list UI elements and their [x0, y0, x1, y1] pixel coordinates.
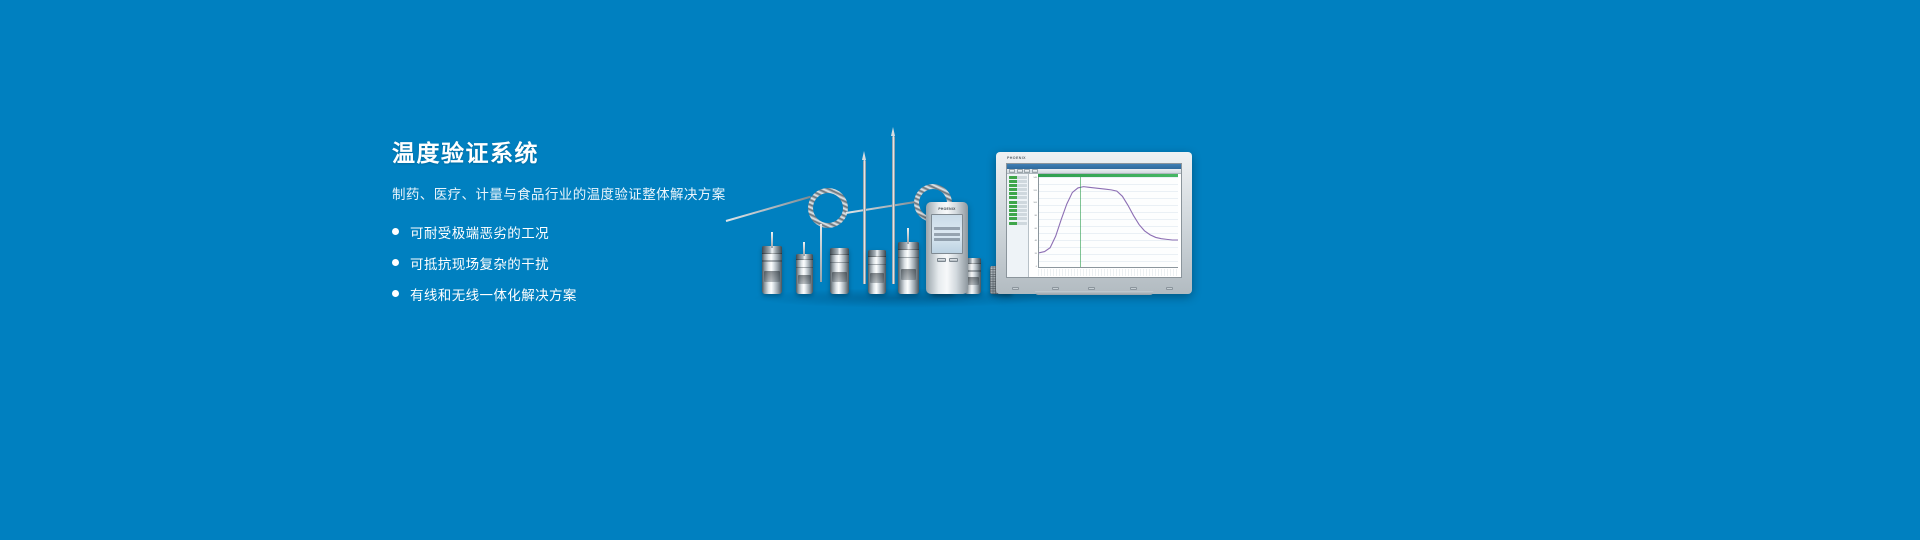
bullet-label: 可抵抗现场复杂的干扰: [410, 253, 549, 273]
data-logger-3: [830, 248, 849, 294]
toolbar-button[interactable]: [1017, 169, 1023, 172]
data-logger-1: [762, 246, 782, 294]
chart-y-axis: 140120100806040200: [1029, 177, 1038, 268]
logger-body: [830, 248, 849, 294]
channel-row[interactable]: [1009, 209, 1027, 212]
logger-body: [796, 254, 813, 294]
bullet-dot-icon: [392, 290, 399, 297]
handheld-screen-line: [934, 227, 960, 230]
coiled-wire-probe-left: [808, 188, 848, 228]
chart-y-tick: 40: [1035, 240, 1037, 242]
data-logger-5: [898, 242, 919, 294]
screen-body: 140120100806040200: [1007, 174, 1181, 277]
chart-y-tick: 0: [1036, 266, 1037, 268]
bullet-label: 有线和无线一体化解决方案: [410, 284, 577, 304]
coiled-wire-probe-left-stem: [820, 224, 822, 282]
monitor-button-up[interactable]: [1052, 287, 1059, 290]
coiled-wire-connector: [846, 200, 919, 214]
data-logger-1-pin: [771, 232, 773, 248]
logger-label: [798, 275, 811, 284]
logger-body: [868, 250, 886, 294]
handheld-reader-device: PHOENIX: [926, 202, 968, 294]
toolbar-button[interactable]: [1009, 169, 1015, 172]
channel-row[interactable]: [1009, 205, 1027, 208]
logger-label: [764, 271, 779, 282]
bullet-dot-icon: [392, 259, 399, 266]
chart-y-tick: 20: [1035, 253, 1037, 255]
chart-y-tick: 80: [1035, 215, 1037, 217]
logger-label: [870, 273, 884, 283]
chart-y-tick: 140: [1033, 177, 1037, 179]
handheld-key-confirm[interactable]: [937, 258, 946, 262]
toolbar-button[interactable]: [1032, 169, 1038, 172]
channel-row[interactable]: [1009, 188, 1027, 191]
coiled-wire-probe-lead: [726, 196, 811, 222]
channel-sidebar[interactable]: [1007, 174, 1029, 277]
needle-probe-short: [863, 160, 866, 284]
panel-pc-monitor: PHOENIX: [996, 152, 1192, 294]
chart-y-tick: 100: [1033, 202, 1037, 204]
bullet-dot-icon: [392, 228, 399, 235]
product-photo-group: PHOENIX PHOENIX: [700, 120, 1260, 320]
handheld-screen-line: [934, 233, 960, 236]
channel-row[interactable]: [1009, 176, 1027, 179]
hero-banner: 温度验证系统 制药、医疗、计量与食品行业的温度验证整体解决方案 可耐受极端恶劣的…: [0, 0, 1920, 540]
logger-ring: [830, 262, 849, 264]
data-logger-4: [868, 250, 886, 294]
chart-x-axis: [1038, 269, 1178, 276]
channel-row[interactable]: [1009, 222, 1027, 225]
channel-row[interactable]: [1009, 201, 1027, 204]
data-logger-5-pin: [907, 228, 909, 244]
handheld-screen: [931, 214, 963, 254]
logger-ring: [868, 264, 886, 266]
monitor-button-menu[interactable]: [1012, 287, 1019, 290]
channel-row[interactable]: [1009, 213, 1027, 216]
handheld-keypad[interactable]: [937, 258, 958, 262]
chart-line-svg: [1039, 177, 1178, 267]
channel-row[interactable]: [1009, 192, 1027, 195]
logger-ring: [762, 260, 782, 262]
logger-ring: [898, 257, 919, 259]
monitor-screen[interactable]: 140120100806040200: [1006, 163, 1182, 278]
data-logger-2-pin: [803, 242, 805, 256]
logger-label: [901, 269, 917, 280]
chart-y-tick: 120: [1033, 190, 1037, 192]
handheld-screen-line: [934, 238, 960, 241]
logger-body: [762, 246, 782, 294]
monitor-brand-label: PHOENIX: [1007, 156, 1026, 160]
channel-row[interactable]: [1009, 217, 1027, 220]
logger-ring: [796, 267, 813, 269]
logger-cap: [830, 248, 849, 255]
temperature-chart: 140120100806040200: [1029, 174, 1181, 277]
data-logger-2: [796, 254, 813, 294]
logger-label: [832, 272, 846, 282]
needle-probe-tall: [892, 136, 895, 284]
channel-row[interactable]: [1009, 196, 1027, 199]
channel-row[interactable]: [1009, 180, 1027, 183]
monitor-button-confirm[interactable]: [1130, 287, 1137, 290]
monitor-button-power[interactable]: [1166, 287, 1173, 290]
chart-y-tick: 60: [1035, 228, 1037, 230]
logger-cap: [868, 250, 886, 257]
chart-series-line: [1039, 187, 1178, 253]
monitor-button-down[interactable]: [1088, 287, 1095, 290]
logger-body: [898, 242, 919, 294]
monitor-stand: [1035, 291, 1153, 295]
handheld-brand-label: PHOENIX: [938, 207, 955, 211]
handheld-key-back[interactable]: [949, 258, 958, 262]
bullet-label: 可耐受极端恶劣的工况: [410, 222, 549, 242]
chart-plot-area: [1038, 177, 1178, 268]
toolbar-button[interactable]: [1024, 169, 1030, 172]
channel-row[interactable]: [1009, 184, 1027, 187]
